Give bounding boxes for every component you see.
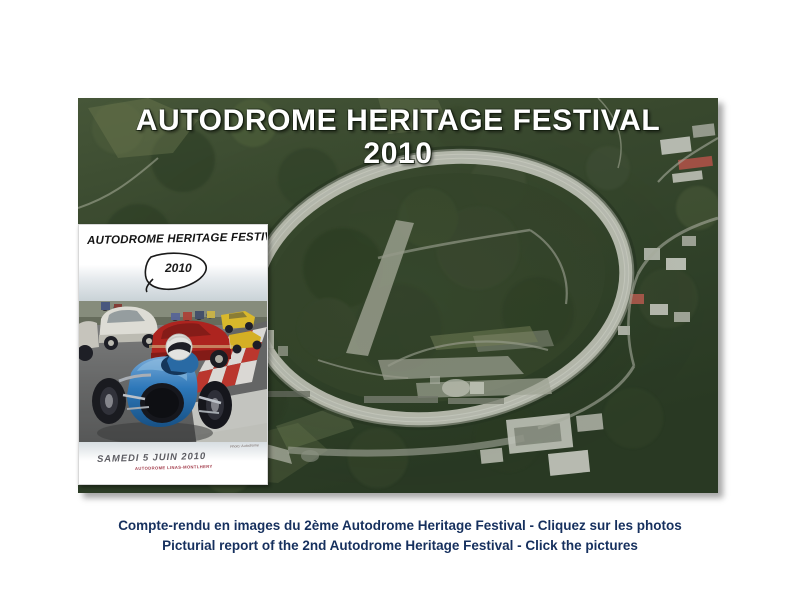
poster-photo-cars xyxy=(79,295,267,447)
poster-year-badge: 2010 xyxy=(165,261,192,275)
poster-artwork: AUTODROME HERITAGE FESTIVAL 2010 SAMEDI … xyxy=(79,225,267,484)
poster-thumbnail-link[interactable]: AUTODROME HERITAGE FESTIVAL 2010 SAMEDI … xyxy=(78,224,268,485)
poster-header-title: AUTODROME HERITAGE FESTIVAL xyxy=(87,231,261,247)
poster-footer-band: SAMEDI 5 JUIN 2010 AUTODROME LINAS-MONTL… xyxy=(79,442,267,484)
poster-footer-credit: Photo: Autodrome xyxy=(230,443,259,449)
caption-block: Compte-rendu en images du 2ème Autodrome… xyxy=(0,516,800,556)
poster-header-band: AUTODROME HERITAGE FESTIVAL 2010 xyxy=(79,225,267,301)
caption-line-french: Compte-rendu en images du 2ème Autodrome… xyxy=(0,516,800,536)
poster-footer-subtitle: AUTODROME LINAS-MONTLHERY xyxy=(135,464,213,471)
caption-line-english: Picturial report of the 2nd Autodrome He… xyxy=(0,536,800,556)
poster-footer-date: SAMEDI 5 JUIN 2010 xyxy=(97,451,206,465)
